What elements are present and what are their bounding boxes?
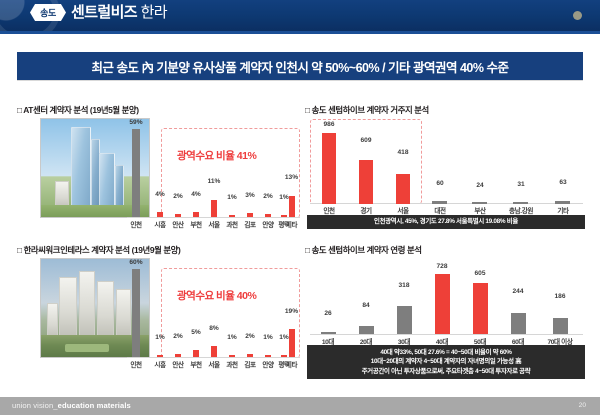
panel-bottom-right: □ 송도 센텀하이브 계약자 연령 분석 26 10대 84 20대 318 3… xyxy=(305,244,585,376)
bar-gyeonggi-count xyxy=(359,160,373,204)
bar-label-seoul-count: 서울 xyxy=(389,205,417,215)
bar-label-ansan-2: 안산 xyxy=(170,359,186,369)
logo-badge-label: 송도 xyxy=(40,6,56,19)
bar-value-bucheon: 4% xyxy=(188,191,204,198)
header-dot-icon xyxy=(573,11,582,20)
bar-seoul-2 xyxy=(211,346,217,357)
bar-ansan-2 xyxy=(175,354,181,357)
bar-label-gwacheon-2: 과천 xyxy=(224,359,240,369)
bar-value-gimpo-2: 2% xyxy=(242,333,258,340)
bar-value-seoul-count: 418 xyxy=(389,149,417,156)
caption-top-right: 인천광역시, 45%, 경기도 27.8% 서울특별시 19.08% 비율 xyxy=(307,215,585,229)
bar-age-60s xyxy=(511,313,526,334)
bar-label-daejeon-count: 대전 xyxy=(426,205,454,215)
bar-siheung-2 xyxy=(157,355,163,357)
bar-label-gyeonggi-count: 경기 xyxy=(352,205,380,215)
bar-value-bucheon-2: 5% xyxy=(188,329,204,336)
slide: 송도 센트럴비즈 한라 최근 송도 內 기분양 유사상품 계약자 인천시 약 5… xyxy=(0,0,600,415)
bar-value-siheung: 4% xyxy=(152,191,168,198)
bar-value-ansan: 2% xyxy=(170,193,186,200)
caption-line: 주거공간이 아닌 투자상품으로써, 주요타겟층 4~50대 투자자로 공략 xyxy=(362,367,531,376)
bar-siheung xyxy=(157,212,163,217)
bar-chungnam-count xyxy=(513,202,528,204)
slide-header: 송도 센트럴비즈 한라 xyxy=(0,0,600,31)
footer-brand: union vision_education materials xyxy=(12,401,131,410)
bar-age-40s xyxy=(435,274,450,334)
bar-label-incheon-count: 인천 xyxy=(315,205,343,215)
panel-top-left: □ AT센터 계약자 분석 (19년5월 분양) 광역수요 비율 41% 59%… xyxy=(17,104,300,228)
bar-value-chungnam-count: 31 xyxy=(505,181,537,188)
bar-value-gwacheon-2: 1% xyxy=(224,334,240,341)
bar-etc-count xyxy=(555,201,570,204)
bar-age-70s xyxy=(553,318,568,334)
header-rule xyxy=(0,31,600,34)
highlight-box-top-left xyxy=(161,128,300,218)
logo-hexagon-badge: 송도 xyxy=(30,4,66,21)
bar-label-busan-count: 부산 xyxy=(466,205,494,215)
bar-value-seoul-2: 8% xyxy=(206,325,222,332)
caption-bottom-right: 40대 약33%, 50대 27.6% = 40~50대 비율이 약 60% 1… xyxy=(307,345,585,379)
bar-label-seoul: 서울 xyxy=(206,219,222,229)
bar-gimpo xyxy=(247,213,253,217)
bar-incheon-2 xyxy=(132,269,140,357)
bar-busan-count xyxy=(472,202,487,204)
bar-anyang xyxy=(265,214,271,217)
logo: 송도 센트럴비즈 한라 xyxy=(30,4,167,21)
footer-brand-light: union vision_ xyxy=(12,401,58,410)
panel-top-right: □ 송도 센텀하이브 계약자 거주지 분석 986 인천 609 경기 418 … xyxy=(305,104,585,232)
bar-value-anyang: 2% xyxy=(260,193,276,200)
bar-age-20s xyxy=(359,326,374,334)
panel-top-left-title: □ AT센터 계약자 분석 (19년5월 분양) xyxy=(17,104,300,116)
bar-age-30s xyxy=(397,306,412,334)
bar-value-age-10s: 26 xyxy=(313,310,343,317)
bar-etc xyxy=(289,196,295,217)
caption-line: 인천광역시, 45%, 경기도 27.8% 서울특별시 19.08% 비율 xyxy=(374,217,518,226)
bar-gwacheon-2 xyxy=(229,355,235,357)
bar-value-anyang-2: 1% xyxy=(260,334,276,341)
bar-label-gimpo-2: 김포 xyxy=(242,359,258,369)
bar-age-10s xyxy=(321,332,336,334)
bar-value-age-40s: 728 xyxy=(427,263,457,270)
bar-value-incheon: 59% xyxy=(125,119,147,126)
chart-axis-bottom-left xyxy=(127,357,300,358)
highlight-label-top-left: 광역수요 비율 41% xyxy=(177,148,256,163)
logo-title-bold: 센트럴비즈 xyxy=(71,4,137,21)
bar-label-bucheon: 부천 xyxy=(188,219,204,229)
bar-ansan xyxy=(175,214,181,217)
bar-incheon xyxy=(132,129,140,217)
bar-pyeongtaek xyxy=(281,215,287,217)
panel-bottom-right-title: □ 송도 센텀하이브 계약자 연령 분석 xyxy=(305,244,585,256)
logo-title: 센트럴비즈 한라 xyxy=(71,4,167,21)
bar-label-incheon: 인천 xyxy=(125,219,147,229)
bar-value-etc: 13% xyxy=(283,174,300,181)
highlight-box-bottom-left xyxy=(161,268,300,358)
bar-gimpo-2 xyxy=(247,354,253,357)
bar-label-etc-2: 기타 xyxy=(283,359,300,369)
bar-label-siheung: 시흥 xyxy=(152,219,168,229)
bar-label-gimpo: 김포 xyxy=(242,219,258,229)
bar-value-age-50s: 605 xyxy=(465,270,495,277)
bar-label-incheon-2: 인천 xyxy=(125,359,147,369)
chart-axis-top-left xyxy=(127,217,300,218)
caption-line: 40대 약33%, 50대 27.6% = 40~50대 비율이 약 60% xyxy=(380,348,511,357)
bar-value-siheung-2: 1% xyxy=(152,334,168,341)
bar-label-gwacheon: 과천 xyxy=(224,219,240,229)
bar-value-incheon-count: 986 xyxy=(315,121,343,128)
bar-value-gimpo: 3% xyxy=(242,192,258,199)
bar-value-age-30s: 318 xyxy=(389,282,419,289)
bar-value-age-60s: 244 xyxy=(503,288,533,295)
bar-etc-2 xyxy=(289,329,295,357)
chart-axis-bottom-right xyxy=(310,334,583,335)
bar-seoul-count xyxy=(396,174,410,204)
header-decorative-circle xyxy=(0,0,60,31)
bar-value-ansan-2: 2% xyxy=(170,333,186,340)
bar-bucheon xyxy=(193,212,199,217)
bar-label-etc-count: 기타 xyxy=(549,205,577,215)
bar-anyang-2 xyxy=(265,355,271,357)
bar-label-siheung-2: 시흥 xyxy=(152,359,168,369)
bar-value-gwacheon: 1% xyxy=(224,194,240,201)
bar-label-bucheon-2: 부천 xyxy=(188,359,204,369)
panel-top-right-title: □ 송도 센텀하이브 계약자 거주지 분석 xyxy=(305,104,585,116)
bar-value-busan-count: 24 xyxy=(466,182,494,189)
panel-bottom-left: □ 한라씨워크인테라스 계약자 분석 (19년9월 분양) 광역수요 비율 40… xyxy=(17,244,300,368)
bar-value-incheon-2: 60% xyxy=(125,259,147,266)
bar-label-anyang-2: 안양 xyxy=(260,359,276,369)
bar-value-etc-2: 19% xyxy=(283,308,300,315)
bar-value-daejeon-count: 60 xyxy=(426,180,454,187)
bar-label-ansan: 안산 xyxy=(170,219,186,229)
bar-label-seoul-2: 서울 xyxy=(206,359,222,369)
panel-bottom-left-title: □ 한라씨워크인테라스 계약자 분석 (19년9월 분양) xyxy=(17,244,300,256)
slide-footer: union vision_education materials 20 xyxy=(0,397,600,415)
bar-label-anyang: 안양 xyxy=(260,219,276,229)
bar-seoul xyxy=(211,200,217,217)
footer-brand-bold: education materials xyxy=(58,401,131,410)
bar-gwacheon xyxy=(229,215,235,217)
bar-value-etc-count: 63 xyxy=(549,179,577,186)
bar-value-seoul: 11% xyxy=(206,178,222,185)
bar-incheon-count xyxy=(322,133,336,204)
caption-line: 10대~20대의 계약자 4~50대 계약자의 자녀명의일 가능성 高 xyxy=(371,357,522,366)
page-number: 20 xyxy=(579,402,586,409)
logo-title-light: 한라 xyxy=(141,4,167,21)
bar-label-etc: 기타 xyxy=(283,219,300,229)
bar-pyeongtaek-2 xyxy=(281,355,287,357)
bar-daejeon-count xyxy=(432,201,447,204)
bar-value-gyeonggi-count: 609 xyxy=(352,137,380,144)
bar-value-age-20s: 84 xyxy=(351,302,381,309)
bar-bucheon-2 xyxy=(193,350,199,357)
highlight-label-bottom-left: 광역수요 비율 40% xyxy=(177,288,256,303)
bar-label-chungnam-count: 충남.강원 xyxy=(503,205,539,215)
headline-banner: 최근 송도 內 기분양 유사상품 계약자 인천시 약 50%~60% / 기타 … xyxy=(17,52,583,80)
bar-value-age-70s: 186 xyxy=(541,293,579,300)
bar-age-50s xyxy=(473,283,488,334)
